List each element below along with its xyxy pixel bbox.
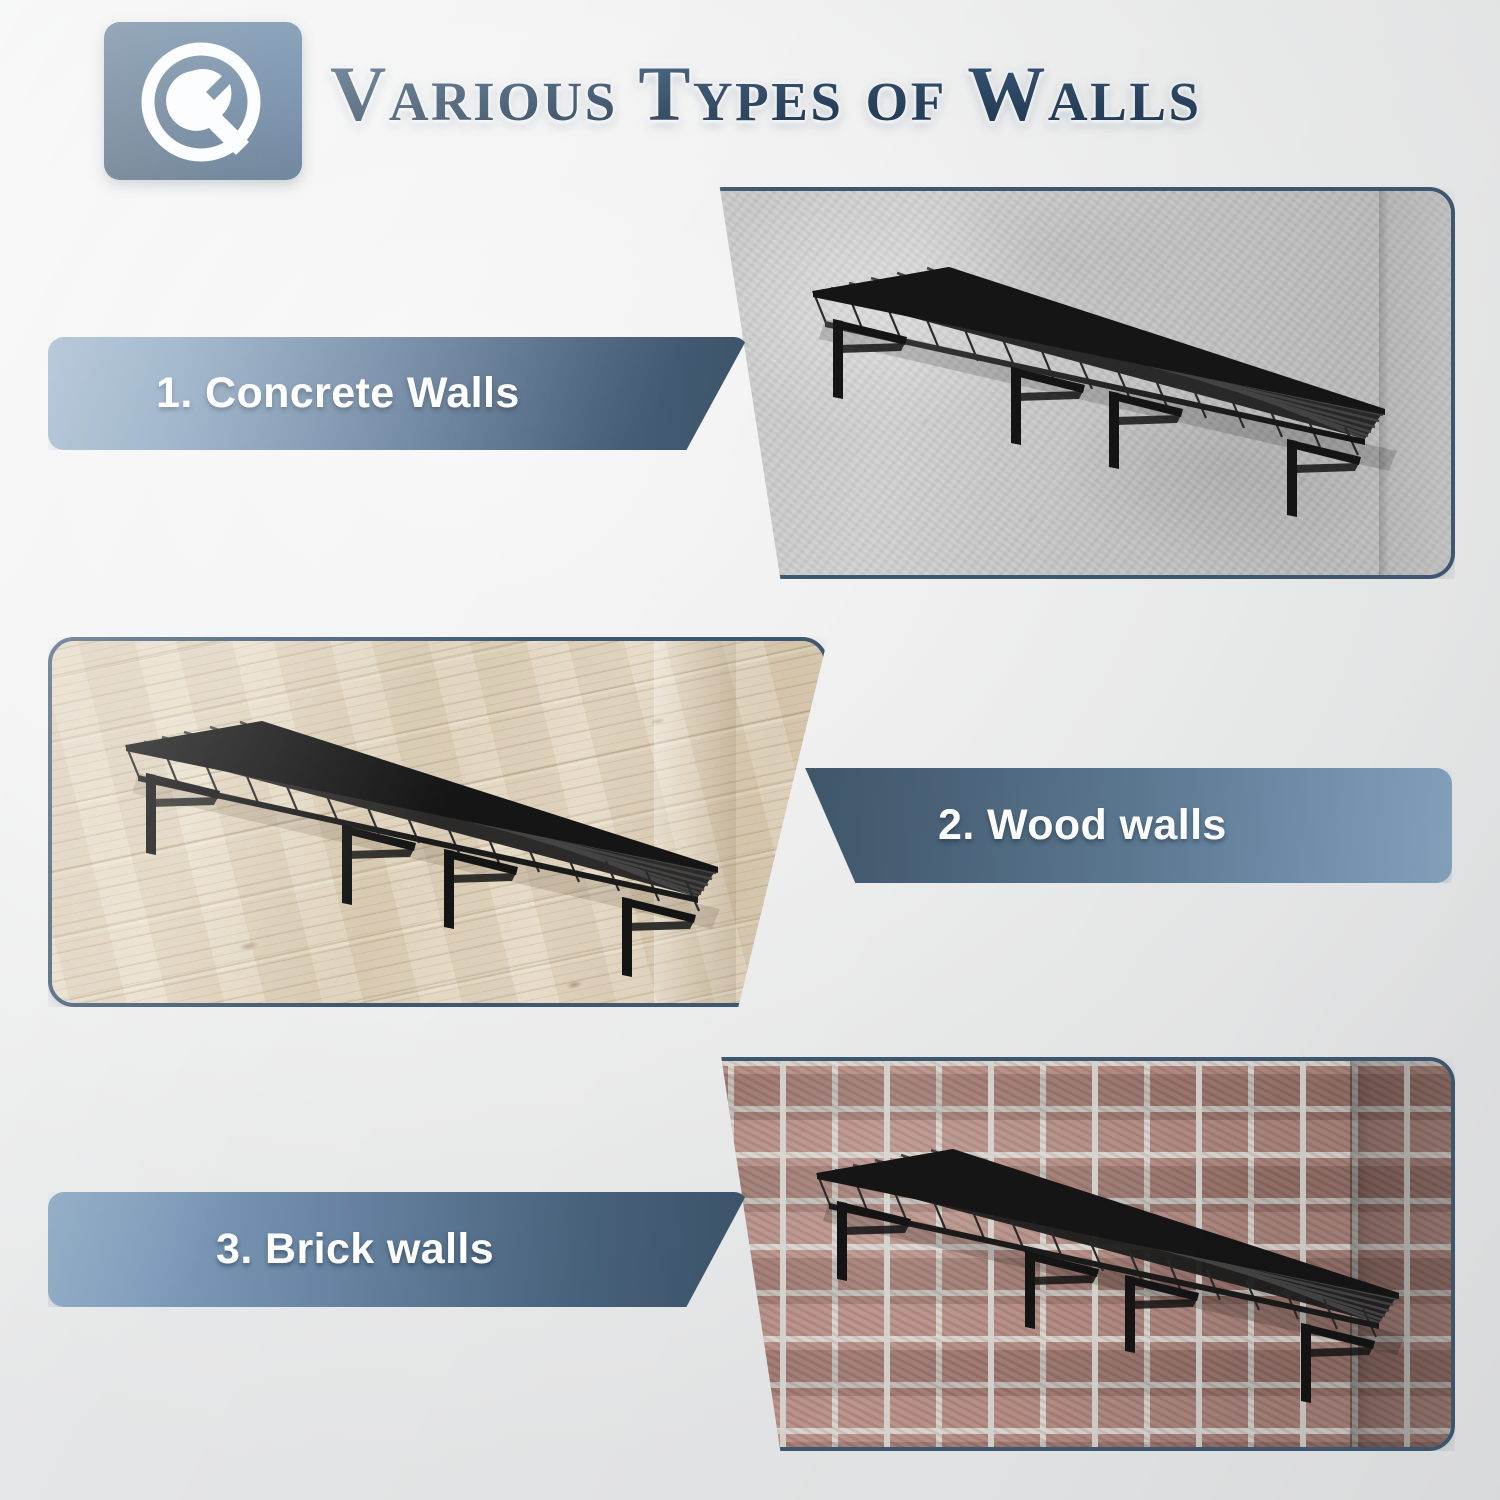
section-label-text: 2. Wood walls	[938, 801, 1227, 850]
section-label-brick[interactable]: 3. Brick walls	[48, 1192, 748, 1307]
section-label-text: 3. Brick walls	[216, 1225, 494, 1274]
wire-shelf-product	[92, 703, 752, 1003]
section-label-text: 1. Concrete Walls	[156, 369, 520, 418]
wrench-in-circle-icon	[126, 30, 276, 174]
wire-shelf-product	[783, 1131, 1433, 1431]
brand-logo-badge	[104, 22, 302, 180]
page-title: Various Types of Walls	[330, 38, 1450, 150]
infographic-page: Various Types of Walls	[0, 0, 1500, 1500]
photo-panel-wood	[48, 637, 828, 1007]
section-label-concrete[interactable]: 1. Concrete Walls	[48, 337, 748, 450]
section-label-wood[interactable]: 2. Wood walls	[792, 768, 1452, 883]
photo-panel-brick	[697, 1057, 1455, 1451]
photo-panel-concrete	[697, 187, 1455, 579]
wire-shelf-product	[779, 249, 1419, 549]
page-header: Various Types of Walls	[0, 0, 1500, 200]
